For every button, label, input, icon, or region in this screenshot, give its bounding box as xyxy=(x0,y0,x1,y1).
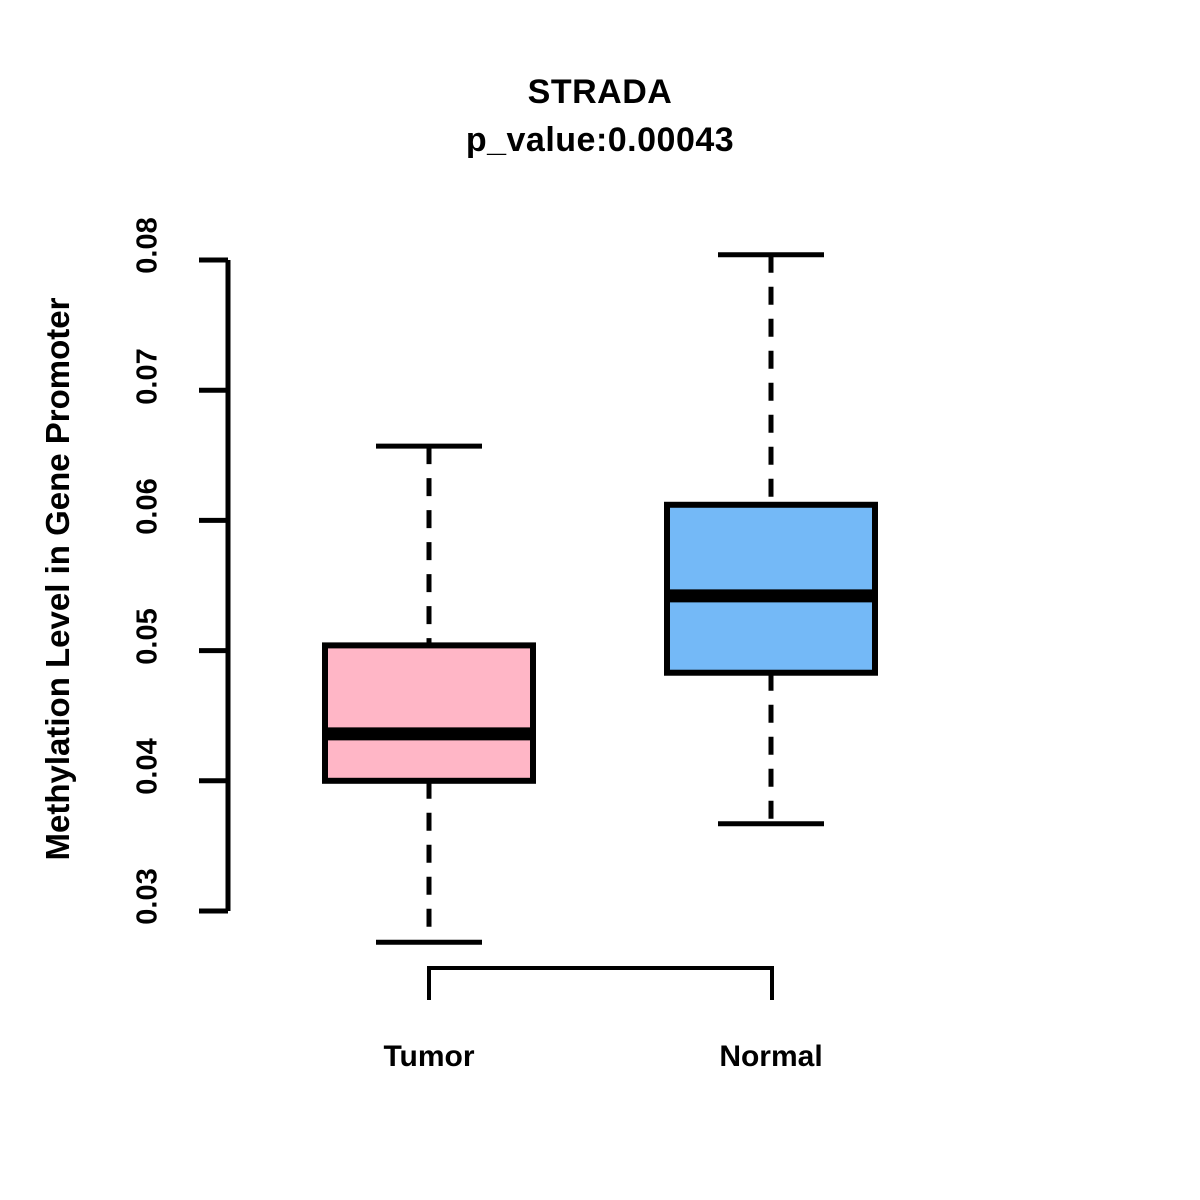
box-series xyxy=(324,255,876,942)
significance-bracket xyxy=(429,968,772,1000)
box-normal xyxy=(666,255,876,824)
box-rect-1 xyxy=(667,505,875,673)
bracket-path xyxy=(429,968,772,1000)
boxplot-figure: STRADA p_value:0.00043 Methylation Level… xyxy=(0,0,1200,1200)
y-axis-ticks xyxy=(199,260,228,911)
y-axis xyxy=(199,260,228,911)
box-rect-0 xyxy=(325,645,533,780)
box-tumor xyxy=(324,446,534,942)
plot-canvas xyxy=(0,0,1200,1200)
